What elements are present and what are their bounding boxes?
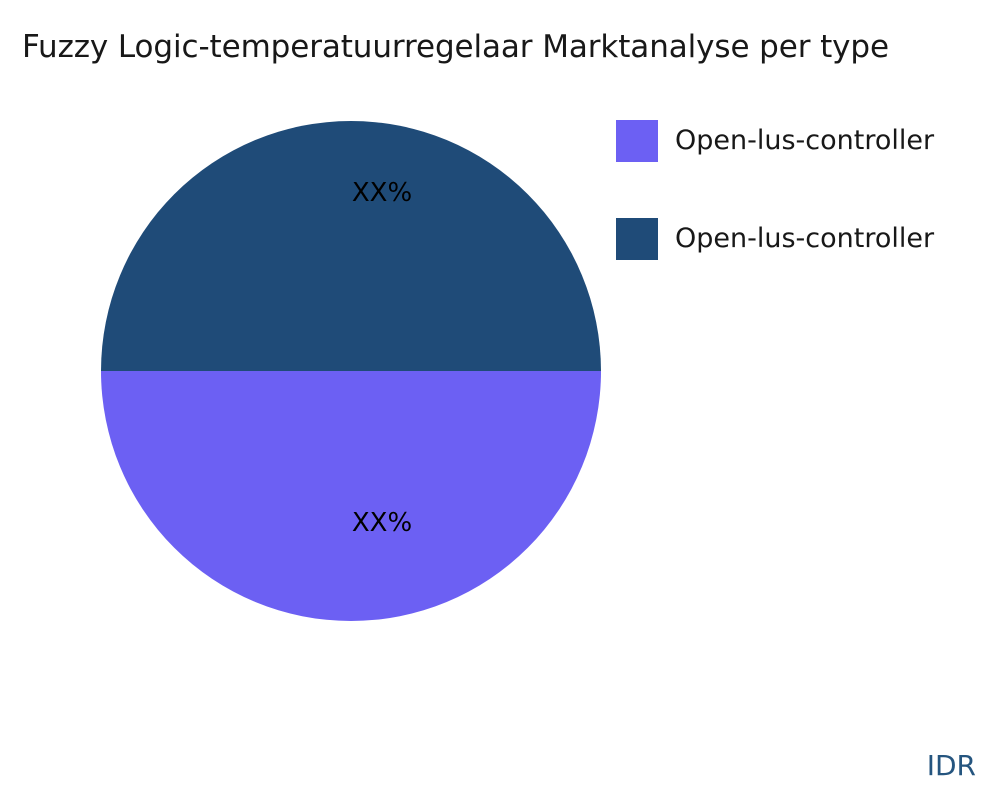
chart-legend: Open-lus-controller Open-lus-controller (616, 120, 1000, 316)
legend-item-label: Open-lus-controller (675, 120, 934, 162)
chart-canvas: Fuzzy Logic-temperatuurregelaar Marktana… (0, 0, 1000, 800)
pie-slice-value-label: XX% (352, 178, 412, 208)
legend-item-label: Open-lus-controller (675, 218, 934, 260)
legend-item[interactable]: Open-lus-controller (616, 218, 1000, 260)
pie-slice-value-label: XX% (352, 508, 412, 538)
page-title: Fuzzy Logic-temperatuurregelaar Marktana… (22, 26, 1000, 68)
legend-color-swatch (616, 218, 658, 260)
pie-slice-open-lus-controller-1[interactable] (101, 371, 601, 621)
watermark-text: IDR (927, 749, 976, 782)
legend-item[interactable]: Open-lus-controller (616, 120, 1000, 162)
pie-slice-open-lus-controller-2[interactable] (101, 121, 601, 371)
legend-color-swatch (616, 120, 658, 162)
